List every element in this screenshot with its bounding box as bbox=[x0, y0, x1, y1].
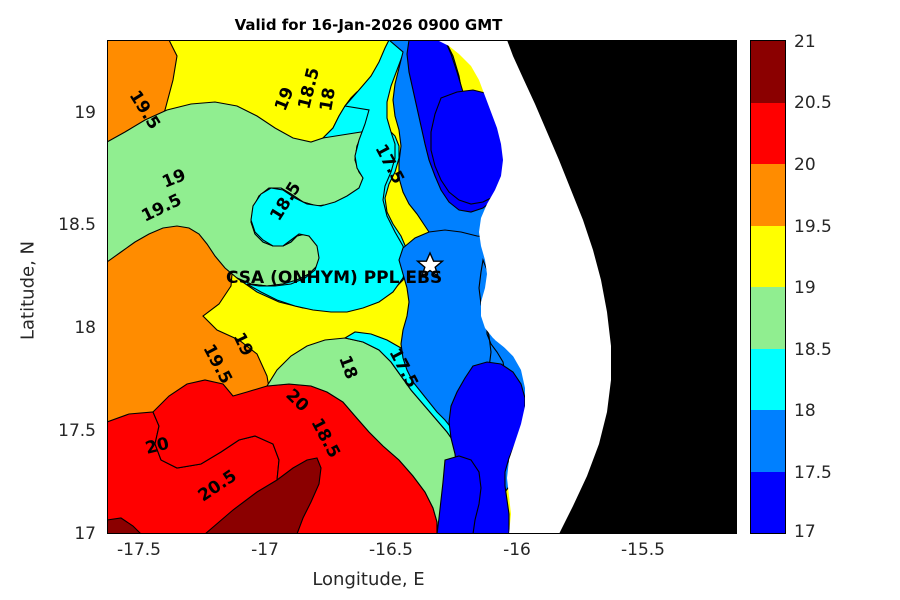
colorbar[interactable] bbox=[750, 40, 786, 534]
colorbar-tick-18: 18 bbox=[794, 401, 816, 421]
ytick-label-18.5: 18.5 bbox=[0, 215, 96, 235]
colorbar-band-19.5-20 bbox=[751, 164, 785, 226]
ytick-label-18: 18 bbox=[0, 318, 96, 338]
colorbar-tick-21: 21 bbox=[794, 32, 816, 52]
colorbar-band-18.5-19 bbox=[751, 287, 785, 349]
ytick-label-19: 19 bbox=[0, 103, 96, 123]
colorbar-tick-20.5: 20.5 bbox=[794, 93, 832, 113]
y-axis-label: Latitude, N bbox=[18, 211, 39, 371]
x-axis-label: Longitude, E bbox=[0, 569, 737, 590]
ytick-label-17.5: 17.5 bbox=[0, 421, 96, 441]
colorbar-band-19-19.5 bbox=[751, 226, 785, 288]
figure-title: Valid for 16-Jan-2026 0900 GMT bbox=[0, 16, 737, 34]
contour-label: 18 bbox=[316, 86, 340, 113]
colorbar-band-17.5-18 bbox=[751, 410, 785, 472]
xtick-label--16.5: -16.5 bbox=[369, 540, 413, 560]
colorbar-tick-20: 20 bbox=[794, 155, 816, 175]
colorbar-tick-19.5: 19.5 bbox=[794, 217, 832, 237]
xtick-label--17: -17 bbox=[251, 540, 279, 560]
xtick-label--16: -16 bbox=[503, 540, 531, 560]
colorbar-tick-19: 19 bbox=[794, 278, 816, 298]
colorbar-band-17-17.5 bbox=[751, 472, 785, 534]
colorbar-band-20-20.5 bbox=[751, 103, 785, 165]
colorbar-band-20.5-21 bbox=[751, 41, 785, 103]
site-annotation-label: CSA (ONHYM) PPL EBS bbox=[226, 268, 442, 288]
xtick-label--17.5: -17.5 bbox=[117, 540, 161, 560]
colorbar-band-18-18.5 bbox=[751, 349, 785, 411]
colorbar-tick-17.5: 17.5 bbox=[794, 463, 832, 483]
colorbar-tick-18.5: 18.5 bbox=[794, 340, 832, 360]
xtick-label--15.5: -15.5 bbox=[621, 540, 665, 560]
ytick-label-17: 17 bbox=[0, 524, 96, 544]
figure-root: Valid for 16-Jan-2026 0900 GMT bbox=[0, 0, 900, 600]
colorbar-tick-17: 17 bbox=[794, 522, 816, 542]
